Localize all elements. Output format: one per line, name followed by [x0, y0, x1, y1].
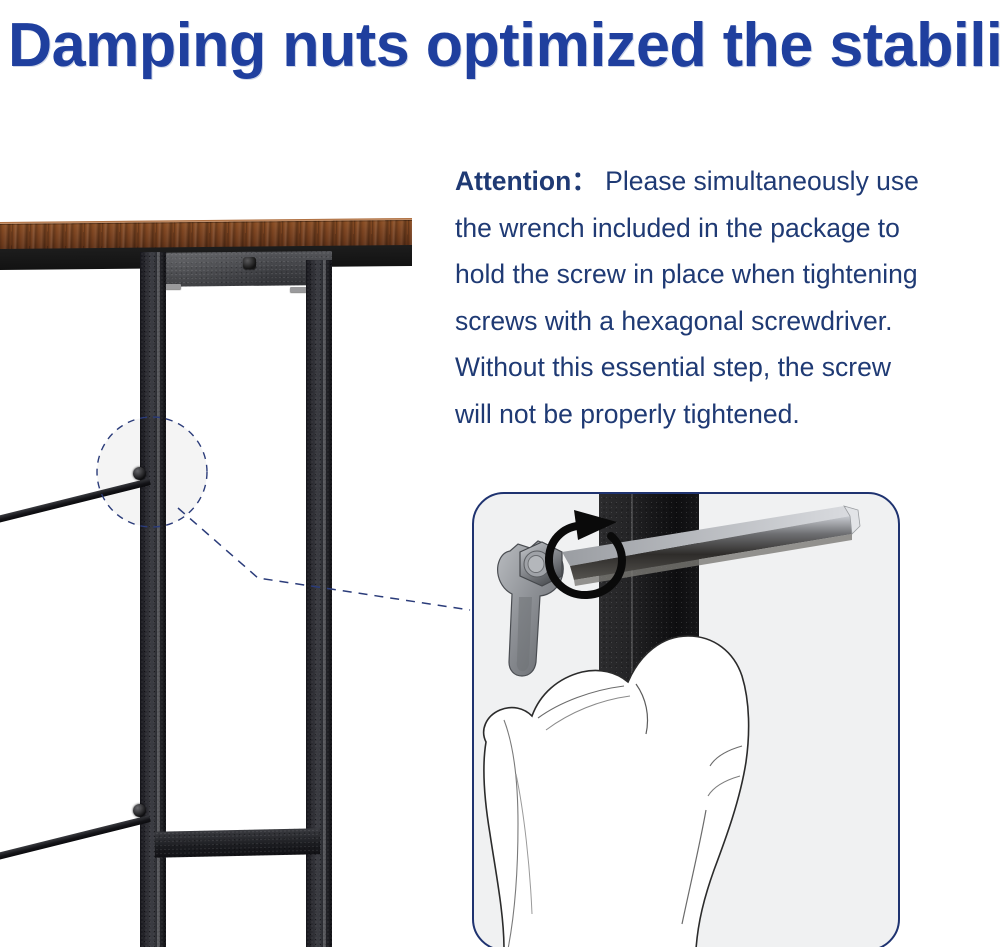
diagonal-brace-upper [0, 478, 151, 557]
attention-paragraph: Attention： Please simultaneously use the… [455, 158, 995, 437]
diagonal-brace-lower [0, 815, 151, 894]
bracket-left [164, 284, 181, 289]
leg-right-edge [323, 260, 326, 947]
attention-line-6: will not be properly tightened. [455, 391, 995, 438]
detail-vector-layer [474, 494, 898, 947]
attention-block: Attention： Please simultaneously use the… [455, 158, 995, 437]
top-frame-rail [142, 251, 332, 287]
rail-bolt-icon [243, 257, 256, 269]
brace-bolt-lower [133, 804, 146, 817]
hex-nut-screw-head [528, 556, 544, 573]
attention-line-1: Attention： Please simultaneously use [455, 158, 995, 205]
attention-line-1-text: Please simultaneously use [605, 166, 919, 196]
crossbar-texture [155, 828, 320, 857]
lower-crossbar [155, 828, 320, 857]
illustration-page: Damping nuts optimized the stability Att… [0, 0, 1000, 947]
page-title: Damping nuts optimized the stability [8, 2, 977, 90]
attention-line-4: screws with a hexagonal screwdriver. [455, 298, 995, 345]
hexagonal-screwdriver [562, 506, 860, 586]
brace-bolt-upper [133, 467, 146, 480]
attention-label: Attention： [455, 166, 598, 196]
hand-holding-wrench [484, 636, 749, 947]
attention-line-2: the wrench included in the package to [455, 205, 995, 252]
attention-line-3: hold the screw in place when tightening [455, 251, 995, 298]
detail-panel [472, 492, 900, 947]
bracket-right [290, 287, 307, 292]
rail-texture [142, 251, 332, 287]
attention-line-5: Without this essential step, the screw [455, 344, 995, 391]
detail-panel-content [474, 494, 898, 947]
title-bar: Damping nuts optimized the stability [0, 0, 1000, 92]
table-illustration [0, 190, 430, 947]
hand-outline [484, 636, 749, 947]
